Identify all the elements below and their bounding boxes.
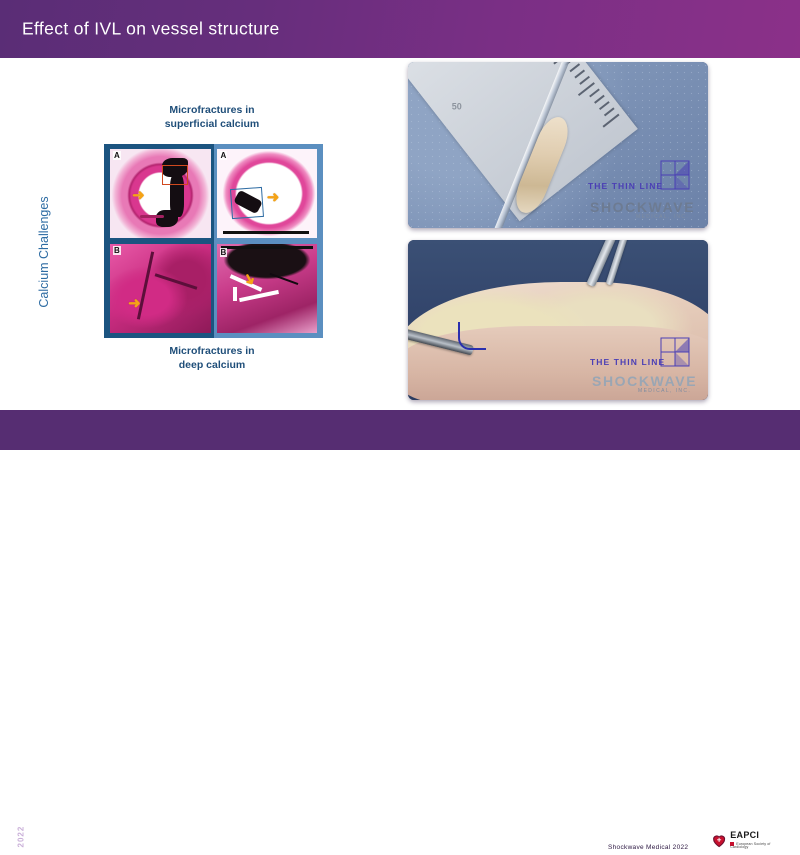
panel-label-b1: B [113,246,121,255]
tissue-streak [140,215,164,218]
histology-panel-a-left: A ➜ [104,144,214,241]
scale-bar [221,246,313,249]
eapci-badge[interactable]: EAPCI European Society of Cardiology [707,828,787,853]
histology-panel-a-right: A ➜ [214,144,324,241]
calcium-deposit [156,210,178,228]
eapci-badge-title: EAPCI [730,831,787,840]
fracture-line [155,273,198,290]
microfracture [239,290,279,302]
eapci-badge-subtitle: European Society of Cardiology [730,842,787,850]
histology-panel-b-right: B ➜ [214,241,324,338]
histology-panel-b-left: B ➜ [104,241,214,338]
orange-arrow-icon: ➜ [267,190,280,205]
orange-arrow-icon: ➜ [128,296,141,311]
scale-bar [223,231,309,234]
shockwave-mark-icon [660,160,690,190]
section-label-calcium-challenges: Calcium Challenges [37,172,51,332]
caption-top-line1: Microfractures in [112,103,312,117]
image-credit: Shockwave Medical 2022 [608,844,688,851]
microfracture [233,287,237,301]
caption-bottom-line2: deep calcium [112,358,312,372]
ruler-number: 50 [452,102,462,112]
histology-slide-b-right: B ➜ [217,244,318,333]
caption-top-line2: superficial calcium [112,117,312,131]
shockwave-mark-icon [660,337,690,367]
histology-slide-b-left: B ➜ [110,244,211,333]
photo-dissected-vessel: THE THIN LINE SHOCKWAVE MEDICAL, INC. [408,240,708,400]
histology-composite-image: A ➜ A ➜ B [104,144,323,338]
pointer-line [269,273,298,285]
slide-footer: 2022 PCR london valves PCRLondonValves.c… [0,410,800,450]
eapci-heart-icon [711,832,727,849]
panel-label-a2: A [220,151,228,160]
photo-calcified-vessel-specimen: 50 THE THIN LINE SHOCKWAVE MEDICAL, INC. [408,62,708,228]
caption-superficial-calcium: Microfractures in superficial calcium [112,103,312,131]
roi-box-red [162,165,188,185]
panel-label-a1: A [113,151,121,160]
histology-slide-a-right: A ➜ [217,149,318,238]
caption-deep-calcium: Microfractures in deep calcium [112,344,312,372]
blue-marking-line [458,322,486,350]
orange-arrow-icon: ➜ [132,188,145,203]
panel-label-b2: B [220,248,228,257]
page-title: Effect of IVL on vessel structure [22,19,280,40]
slide-header: Effect of IVL on vessel structure [0,0,800,58]
slide-root: Effect of IVL on vessel structure Calciu… [0,0,800,450]
pcr-logo-sub: london valves [34,846,91,855]
roi-box-blue [230,187,264,220]
caption-bottom-line1: Microfractures in [112,344,312,358]
histology-slide-a-left: A ➜ [110,149,211,238]
